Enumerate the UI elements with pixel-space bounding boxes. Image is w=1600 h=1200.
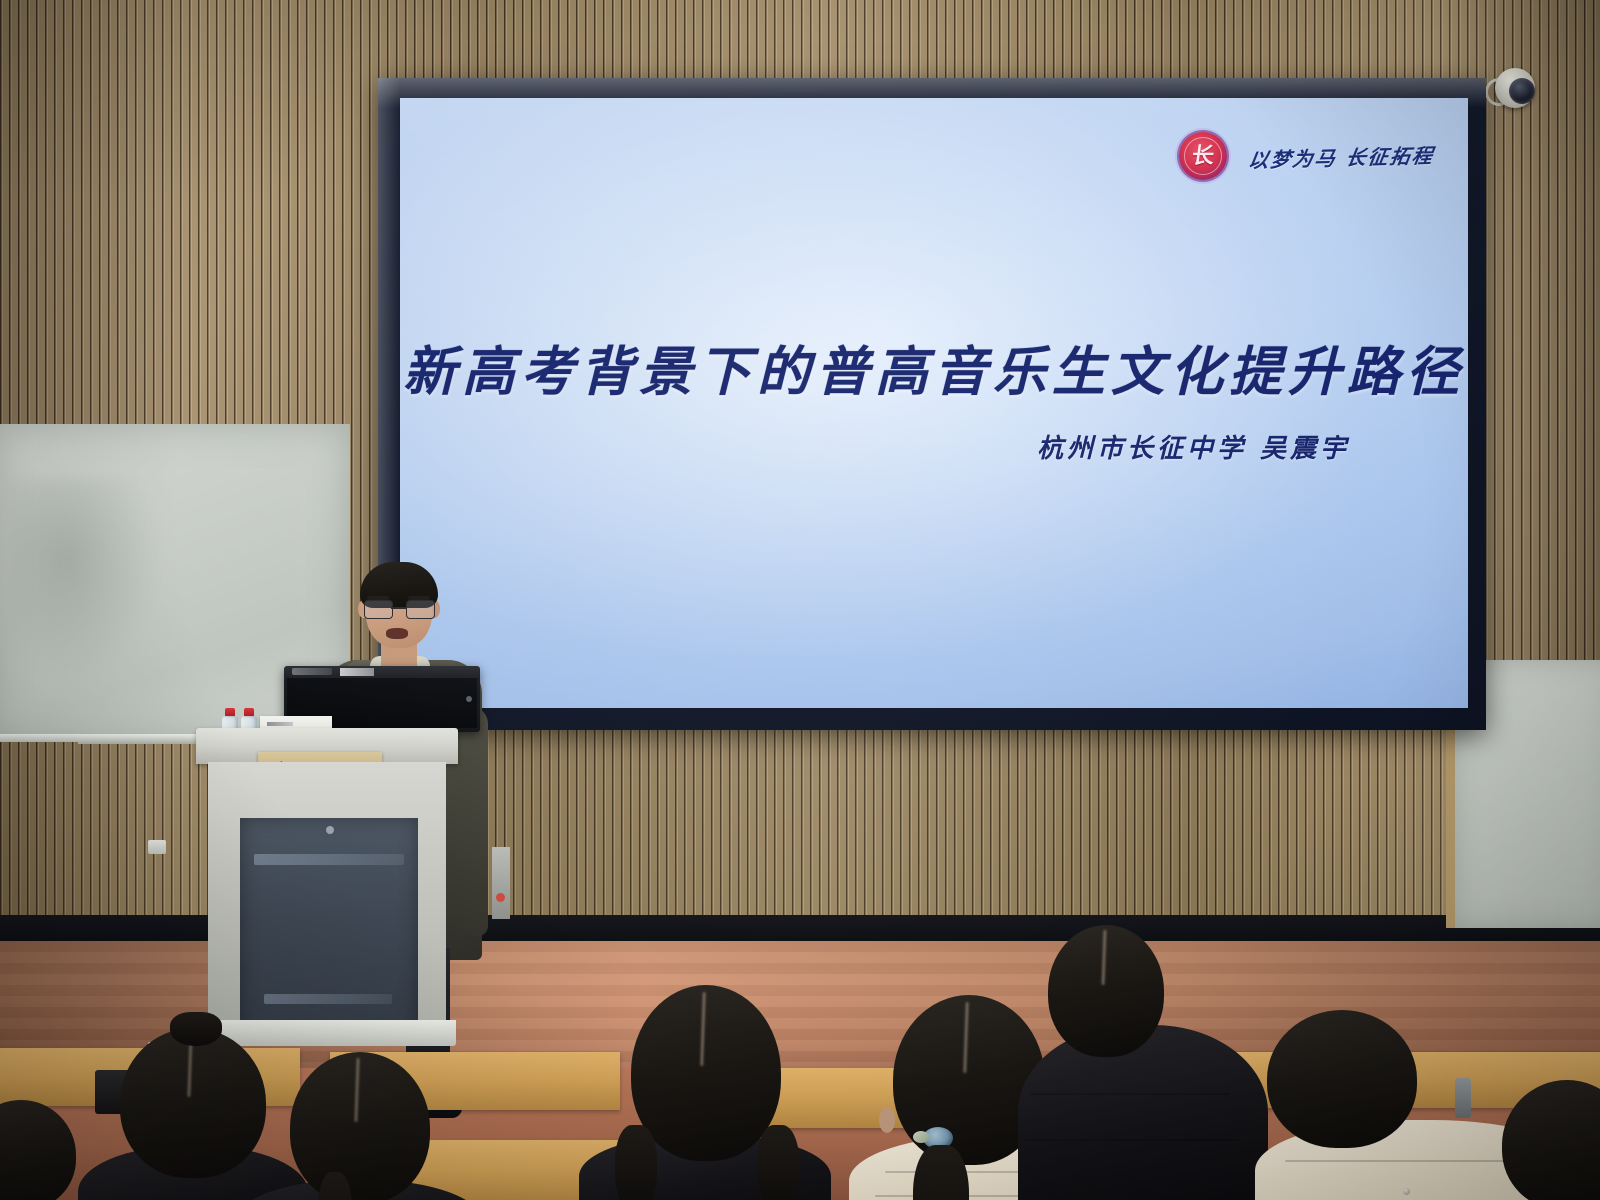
puffer-seam [1030,1093,1230,1095]
monitor-brand-logo [292,668,332,675]
floor-power-post [492,847,510,919]
audience-hair-strand [615,1125,657,1200]
projected-slide: 长 以梦为马 长征拓程 新高考背景下的普高音乐生文化提升路径 杭州市长征中学 吴… [400,98,1468,708]
panel-engraved-text-top [254,854,404,865]
puffer-seam [1024,1139,1239,1141]
lectern-podium: 浙江艺术职业学院 ZHEJIANG VOCATIONAL ACADEMY OF … [196,728,458,1048]
room-background: 长 以梦为马 长征拓程 新高考背景下的普高音乐生文化提升路径 杭州市长征中学 吴… [0,0,1600,1200]
audience-head [290,1052,430,1200]
monitor-asset-tag [340,668,374,676]
audience-person [246,1052,472,1200]
audience-head [631,985,781,1161]
audience-person [1040,925,1270,1195]
audience-head [1502,1080,1600,1200]
audience-ear [879,1107,895,1133]
slide-subtitle: 杭州市长征中学 吴震宇 [1037,428,1350,465]
audience-puffer-black [1018,1025,1268,1200]
security-camera-icon [1489,66,1535,112]
slide-motto: 以梦为马 长征拓程 [1246,139,1436,173]
monitor-power-led [466,696,472,702]
podium-front-panel [240,818,418,1046]
emblem-glyph: 长 [1190,145,1215,167]
camera-lens [1509,78,1535,104]
wall-socket [148,840,166,854]
puffer-seam [1285,1160,1525,1162]
audience-hair-strand [757,1125,799,1200]
audience-person [0,1100,86,1200]
panel-engraved-text-bottom [264,994,392,1004]
puffer-snap [1403,1188,1410,1195]
presenter-mouth [386,628,408,639]
projection-screen-frame: 长 以梦为马 长征拓程 新高考背景下的普高音乐生文化提升路径 杭州市长征中学 吴… [378,78,1486,730]
panel-screw [326,826,334,834]
whiteboard-smudge [8,479,158,679]
audience-hair-bun [170,1012,222,1046]
slide-header: 长 以梦为马 长征拓程 [1179,132,1434,180]
slide-title: 新高考背景下的普高音乐生文化提升路径 [400,330,1468,406]
audience-head [1048,925,1164,1057]
audience-person [1502,1080,1600,1200]
presenter-glasses-icon [364,600,434,617]
podium-body [208,762,446,1024]
audience-head [1267,1010,1417,1148]
lecture-hall-photo: 长 以梦为马 长征拓程 新高考背景下的普高音乐生文化提升路径 杭州市长征中学 吴… [0,0,1600,1200]
audience-person [585,985,825,1200]
school-emblem-icon: 长 [1179,132,1227,180]
audience-head [0,1100,76,1200]
glasses-lens-left [364,600,393,619]
audience-head [120,1028,266,1178]
glasses-bridge [391,607,406,609]
glasses-lens-right [406,600,435,619]
camera-body [1495,68,1535,108]
